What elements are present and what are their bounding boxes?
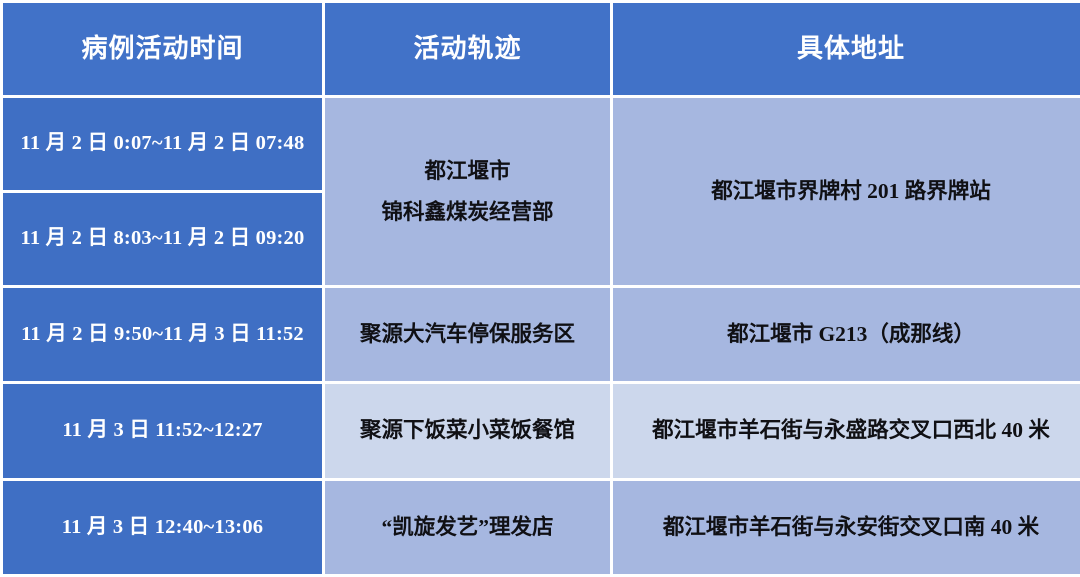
cell-specific-address: 都江堰市羊石街与永盛路交叉口西北 40 米: [613, 384, 1080, 478]
cell-activity-time: 11 月 2 日 0:07~11 月 2 日 07:48: [3, 98, 322, 190]
table-header: 病例活动时间 活动轨迹 具体地址: [3, 3, 1080, 95]
cell-specific-address: 都江堰市 G213（成那线）: [613, 288, 1080, 381]
table-row: 11 月 2 日 9:50~11 月 3 日 11:52 聚源大汽车停保服务区 …: [3, 288, 1080, 381]
epidemiological-trace-table: 病例活动时间 活动轨迹 具体地址 11 月 2 日 0:07~11 月 2 日 …: [0, 0, 1080, 577]
cell-activity-time: 11 月 3 日 12:40~13:06: [3, 481, 322, 574]
cell-activity-track: 聚源大汽车停保服务区: [325, 288, 610, 381]
cell-activity-track: 聚源下饭菜小菜饭餐馆: [325, 384, 610, 478]
table-row: 11 月 3 日 12:40~13:06 “凯旋发艺”理发店 都江堰市羊石街与永…: [3, 481, 1080, 574]
cell-specific-address-merged: 都江堰市界牌村 201 路界牌站: [613, 98, 1080, 285]
column-header-activity-track: 活动轨迹: [325, 3, 610, 95]
cell-activity-track-merged: 都江堰市 锦科鑫煤炭经营部: [325, 98, 610, 285]
table-body: 11 月 2 日 0:07~11 月 2 日 07:48 都江堰市 锦科鑫煤炭经…: [3, 98, 1080, 574]
table-row: 11 月 3 日 11:52~12:27 聚源下饭菜小菜饭餐馆 都江堰市羊石街与…: [3, 384, 1080, 478]
cell-activity-time: 11 月 2 日 9:50~11 月 3 日 11:52: [3, 288, 322, 381]
epidemiological-trace-table-container: 病例活动时间 活动轨迹 具体地址 11 月 2 日 0:07~11 月 2 日 …: [0, 0, 1080, 558]
table-row: 11 月 2 日 0:07~11 月 2 日 07:48 都江堰市 锦科鑫煤炭经…: [3, 98, 1080, 190]
cell-specific-address: 都江堰市羊石街与永安街交叉口南 40 米: [613, 481, 1080, 574]
column-header-specific-address: 具体地址: [613, 3, 1080, 95]
table-header-row: 病例活动时间 活动轨迹 具体地址: [3, 3, 1080, 95]
cell-activity-track: “凯旋发艺”理发店: [325, 481, 610, 574]
track-line-1: 都江堰市: [331, 151, 604, 192]
cell-activity-time: 11 月 2 日 8:03~11 月 2 日 09:20: [3, 193, 322, 285]
column-header-case-activity-time: 病例活动时间: [3, 3, 322, 95]
cell-activity-time: 11 月 3 日 11:52~12:27: [3, 384, 322, 478]
track-line-2: 锦科鑫煤炭经营部: [331, 192, 604, 233]
